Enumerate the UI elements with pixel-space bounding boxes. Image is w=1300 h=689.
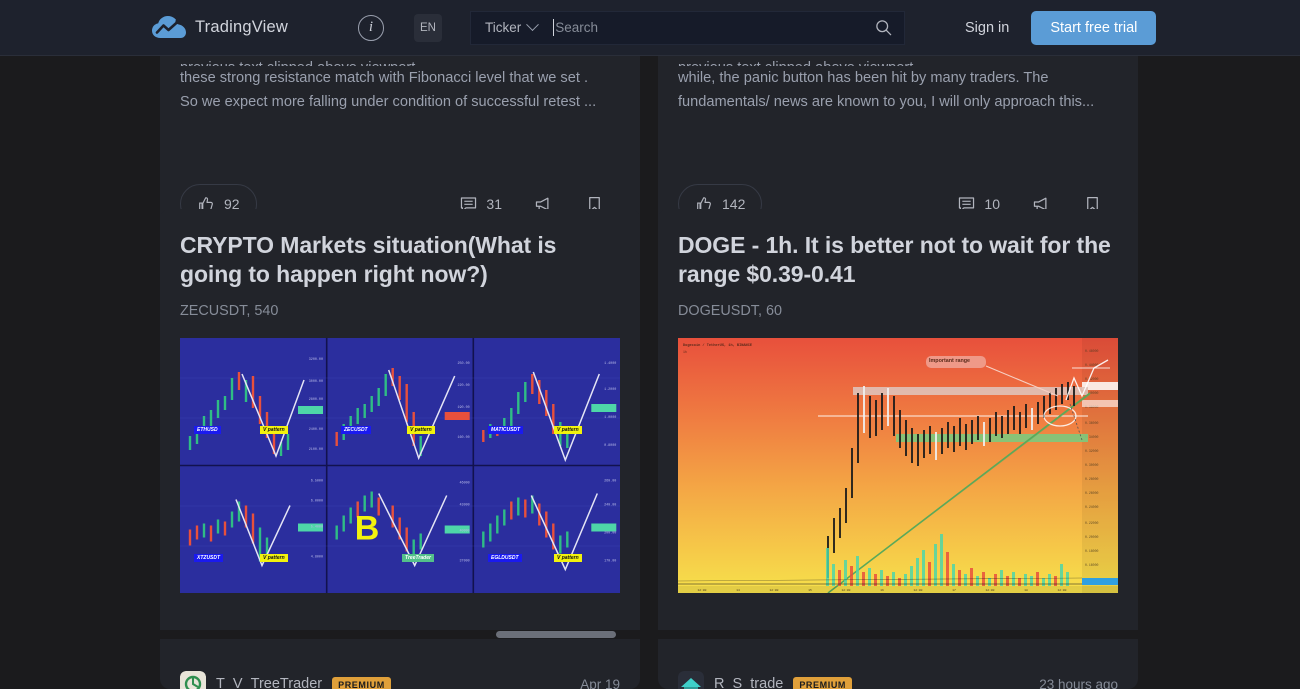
- start-free-trial-button[interactable]: Start free trial: [1031, 11, 1156, 45]
- svg-text:3000.00: 3000.00: [309, 380, 323, 384]
- author-name[interactable]: T_V_TreeTrader: [216, 676, 322, 689]
- idea-timestamp: 23 hours ago: [1039, 677, 1118, 689]
- info-icon[interactable]: i: [358, 15, 384, 41]
- svg-text:1.0000: 1.0000: [604, 416, 616, 420]
- tile-pattern-label: V pattern: [260, 426, 288, 434]
- svg-text:170.00: 170.00: [604, 560, 616, 564]
- svg-text:160.00: 160.00: [457, 436, 469, 440]
- tile-symbol-label: ZECUSDT: [341, 426, 371, 434]
- svg-text:6.0000: 6.0000: [311, 500, 323, 504]
- search-input-wrap[interactable]: Search: [555, 12, 875, 44]
- idea-excerpt-line-2: fundamentals/ news are known to you, I w…: [678, 90, 1118, 114]
- idea-header: DOGE - 1h. It is better not to wait for …: [658, 209, 1138, 593]
- page-scrollbar[interactable]: [0, 630, 1300, 639]
- text-caret: [553, 19, 554, 36]
- tradingview-logo[interactable]: TradingView: [152, 16, 288, 40]
- svg-text:0.42000: 0.42000: [1085, 377, 1098, 381]
- idea-header: CRYPTO Markets situation(What is going t…: [160, 209, 640, 593]
- logo-text: TradingView: [195, 18, 288, 37]
- idea-card-bottom-right[interactable]: DOGE - 1h. It is better not to wait for …: [658, 209, 1138, 689]
- tile-symbol-label: EGLDUSDT: [488, 554, 522, 562]
- site-header: TradingView i EN Ticker Search Sign in S…: [0, 0, 1300, 56]
- svg-text:37000: 37000: [460, 560, 470, 564]
- user-avatar[interactable]: [678, 671, 704, 689]
- svg-text:4.8000: 4.8000: [311, 556, 323, 560]
- tile-pattern-label: TreeTrader: [402, 554, 434, 562]
- svg-text:15: 15: [808, 589, 812, 592]
- idea-timestamp: Apr 19: [580, 677, 620, 689]
- search-scope-dropdown[interactable]: Ticker: [485, 20, 537, 35]
- language-button[interactable]: EN: [414, 14, 442, 42]
- svg-text:0.30000: 0.30000: [1085, 463, 1098, 467]
- svg-text:250.00: 250.00: [457, 362, 469, 366]
- tile-pattern-label: V pattern: [554, 426, 582, 434]
- svg-text:Dogecoin / TetherUS, 1h, BINAN: Dogecoin / TetherUS, 1h, BINANCE: [683, 343, 753, 348]
- tile-symbol-label: XTZUSDT: [194, 554, 223, 562]
- language-label: EN: [420, 22, 436, 34]
- svg-text:0.28000: 0.28000: [1085, 477, 1098, 481]
- idea-excerpt-line-1: these strong resistance match with Fibon…: [180, 66, 620, 90]
- premium-badge: PREMIUM: [793, 677, 852, 689]
- idea-symbol[interactable]: ZECUSDT, 540: [180, 303, 620, 319]
- svg-text:12:00: 12:00: [913, 589, 922, 592]
- svg-text:260.00: 260.00: [604, 480, 616, 484]
- idea-excerpt: previous text clipped above viewport whi…: [678, 56, 1118, 114]
- sign-in-link[interactable]: Sign in: [965, 20, 1009, 36]
- idea-thumbnail[interactable]: 0.460000.44000 0.420000.40000 0.380000.3…: [678, 338, 1118, 593]
- svg-text:18: 18: [1024, 589, 1028, 592]
- svg-text:14: 14: [736, 589, 740, 592]
- chevron-down-icon: [526, 18, 539, 31]
- idea-author-row: R_S_trade PREMIUM 23 hours ago: [678, 664, 1118, 689]
- svg-text:12:00: 12:00: [985, 589, 994, 592]
- svg-text:200.00: 200.00: [604, 532, 616, 536]
- info-glyph: i: [369, 19, 373, 36]
- svg-text:0.36000: 0.36000: [1085, 421, 1098, 425]
- svg-text:12:00: 12:00: [769, 589, 778, 592]
- tile-symbol-label: ETHUSD: [194, 426, 221, 434]
- svg-text:43000: 43000: [460, 504, 470, 508]
- idea-excerpt-line-2: So we expect more falling under conditio…: [180, 90, 620, 114]
- ideas-grid: previous text clipped above viewport the…: [0, 56, 1300, 639]
- svg-text:2400.00: 2400.00: [309, 428, 323, 432]
- svg-text:6.5000: 6.5000: [311, 480, 323, 484]
- idea-author-row: T_V_TreeTrader PREMIUM Apr 19: [180, 664, 620, 689]
- svg-text:0.22000: 0.22000: [1085, 521, 1098, 525]
- idea-excerpt-line-0: previous text clipped above viewport: [180, 56, 620, 66]
- idea-excerpt: previous text clipped above viewport the…: [180, 56, 620, 114]
- svg-text:0.24000: 0.24000: [1085, 505, 1098, 509]
- tile-symbol-label: MATICUSDT: [488, 426, 523, 434]
- svg-text:220.00: 220.00: [457, 384, 469, 388]
- search-bar[interactable]: Ticker Search: [470, 11, 905, 45]
- chart-annotation-label: Important range: [929, 358, 970, 364]
- svg-text:1.2000: 1.2000: [604, 388, 616, 392]
- svg-text:40000: 40000: [460, 530, 470, 534]
- svg-text:5.4000: 5.4000: [311, 526, 323, 530]
- svg-text:2100.00: 2100.00: [309, 448, 323, 452]
- svg-text:0.18000: 0.18000: [1085, 549, 1098, 553]
- svg-text:46000: 46000: [460, 482, 470, 486]
- svg-text:12:00: 12:00: [1057, 589, 1066, 592]
- search-placeholder: Search: [555, 20, 598, 35]
- svg-text:0.46000: 0.46000: [1085, 349, 1098, 353]
- author-name[interactable]: R_S_trade: [714, 676, 783, 689]
- tile-pattern-label: V pattern: [554, 554, 582, 562]
- idea-card-bottom-left[interactable]: CRYPTO Markets situation(What is going t…: [160, 209, 640, 689]
- search-scope-label: Ticker: [485, 20, 521, 35]
- svg-text:17: 17: [952, 589, 956, 592]
- svg-text:0.8000: 0.8000: [604, 444, 616, 448]
- svg-text:0.32000: 0.32000: [1085, 449, 1098, 453]
- idea-title[interactable]: CRYPTO Markets situation(What is going t…: [180, 231, 620, 289]
- svg-text:B: B: [355, 510, 380, 548]
- idea-excerpt-line-1: while, the panic button has been hit by …: [678, 66, 1118, 90]
- svg-text:3200.00: 3200.00: [309, 358, 323, 362]
- search-icon[interactable]: [875, 19, 892, 36]
- idea-thumbnail[interactable]: 3200.003000.00 2800.002400.00 2100.00: [180, 338, 620, 593]
- idea-symbol[interactable]: DOGEUSDT, 60: [678, 303, 1118, 319]
- svg-text:2800.00: 2800.00: [309, 398, 323, 402]
- svg-text:12:00: 12:00: [841, 589, 850, 592]
- user-avatar[interactable]: [180, 671, 206, 689]
- idea-excerpt-line-0: previous text clipped above viewport: [678, 56, 1118, 66]
- page-scrollbar-thumb[interactable]: [496, 631, 616, 638]
- doge-candlestick-chart-image: 0.460000.44000 0.420000.40000 0.380000.3…: [678, 338, 1118, 593]
- svg-text:190.00: 190.00: [457, 406, 469, 410]
- svg-text:16: 16: [880, 589, 884, 592]
- tile-pattern-label: V pattern: [407, 426, 435, 434]
- premium-badge: PREMIUM: [332, 677, 391, 689]
- svg-text:12:00: 12:00: [697, 589, 706, 592]
- svg-text:0.16000: 0.16000: [1085, 563, 1098, 567]
- svg-text:1.4000: 1.4000: [604, 362, 616, 366]
- tile-pattern-label: V pattern: [260, 554, 288, 562]
- svg-text:240.00: 240.00: [604, 504, 616, 508]
- tradingview-cloud-logo-icon: [152, 16, 186, 40]
- svg-text:0.26000: 0.26000: [1085, 491, 1098, 495]
- svg-text:0.20000: 0.20000: [1085, 535, 1098, 539]
- svg-text:1h: 1h: [683, 350, 687, 354]
- idea-title[interactable]: DOGE - 1h. It is better not to wait for …: [678, 231, 1118, 289]
